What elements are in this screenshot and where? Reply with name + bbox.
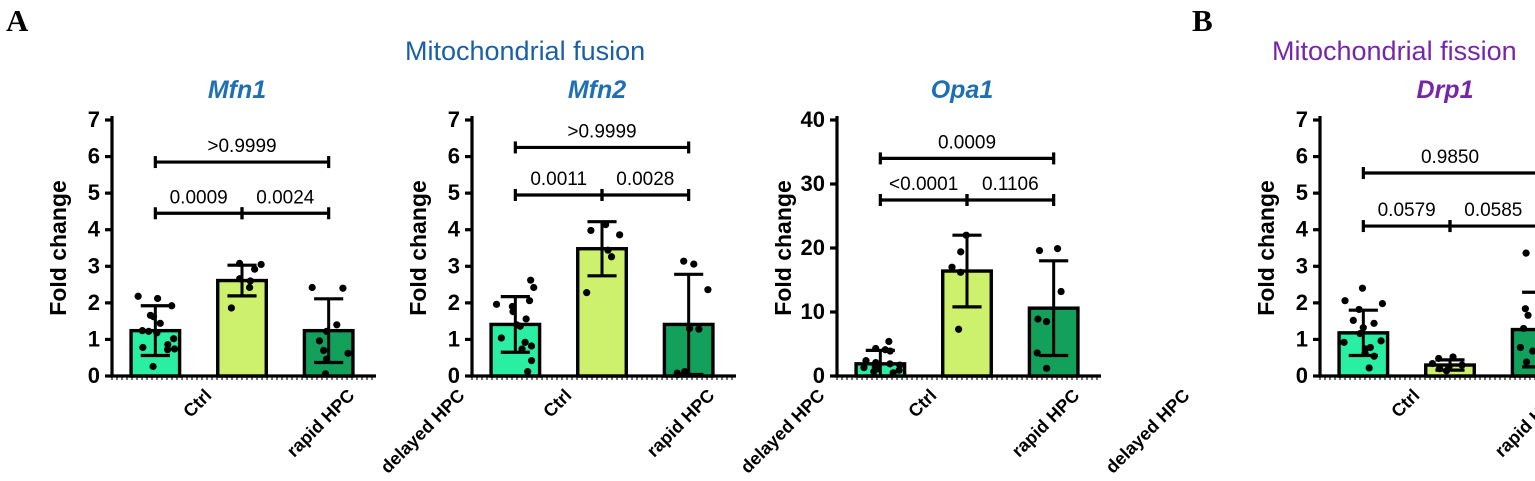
data-point bbox=[247, 277, 254, 284]
data-point bbox=[1340, 339, 1347, 346]
chart-title-drp1: Drp1 bbox=[1258, 78, 1535, 103]
data-point bbox=[323, 328, 330, 335]
data-point bbox=[583, 289, 590, 296]
data-point bbox=[164, 346, 171, 353]
y-tick-label: 1 bbox=[1296, 326, 1308, 351]
data-point bbox=[135, 293, 142, 300]
data-point bbox=[526, 297, 533, 304]
y-axis-label: Fold change bbox=[50, 180, 71, 315]
data-point bbox=[236, 260, 243, 267]
data-point bbox=[690, 260, 697, 267]
data-point bbox=[1524, 312, 1531, 319]
data-point bbox=[517, 323, 524, 330]
data-point bbox=[333, 321, 340, 328]
y-tick-label: 30 bbox=[801, 171, 825, 196]
data-point bbox=[139, 344, 146, 351]
data-point bbox=[1458, 361, 1465, 368]
y-tick-label: 6 bbox=[88, 144, 100, 169]
data-point bbox=[157, 320, 164, 327]
data-point bbox=[1043, 365, 1050, 372]
y-tick-label: 1 bbox=[448, 326, 460, 351]
data-point bbox=[1443, 367, 1450, 374]
data-point bbox=[955, 326, 962, 333]
significance-bracket: 0.0579 bbox=[1363, 200, 1450, 232]
data-point bbox=[316, 337, 323, 344]
data-point bbox=[1371, 353, 1378, 360]
panel-b-label: B bbox=[1192, 5, 1213, 36]
p-value-label: 0.0579 bbox=[1378, 200, 1436, 221]
p-value-label: 0.9850 bbox=[1421, 147, 1479, 168]
y-tick-label: 0 bbox=[813, 363, 825, 388]
significance-bracket: >0.9999 bbox=[515, 121, 688, 153]
data-point bbox=[695, 326, 702, 333]
y-axis-label: Fold change bbox=[1258, 180, 1279, 315]
significance-bracket: >0.9999 bbox=[155, 136, 328, 168]
chart-mfn2: Mfn2 01234567Fold change>0.99990.00110.0… bbox=[410, 78, 740, 481]
y-tick-label: 1 bbox=[88, 326, 100, 351]
data-point bbox=[674, 371, 681, 378]
significance-bracket: 0.0028 bbox=[602, 169, 689, 201]
data-point bbox=[498, 334, 505, 341]
data-point bbox=[1057, 288, 1064, 295]
data-point bbox=[171, 345, 178, 352]
significance-bracket: <0.0001 bbox=[880, 174, 967, 206]
data-point bbox=[251, 266, 258, 273]
data-point bbox=[680, 258, 687, 265]
chart-title-opa1: Opa1 bbox=[775, 78, 1105, 103]
data-point bbox=[1449, 353, 1456, 360]
y-tick-label: 20 bbox=[801, 235, 825, 260]
data-point bbox=[258, 261, 265, 268]
data-point bbox=[862, 357, 869, 364]
y-tick-label: 5 bbox=[448, 180, 460, 205]
data-point bbox=[309, 284, 316, 291]
p-value-label: >0.9999 bbox=[207, 136, 276, 157]
data-point bbox=[886, 360, 893, 367]
y-tick-label: 6 bbox=[448, 144, 460, 169]
data-point bbox=[1034, 349, 1041, 356]
y-tick-label: 5 bbox=[88, 180, 100, 205]
data-point bbox=[1361, 350, 1368, 357]
data-point bbox=[1036, 247, 1043, 254]
y-tick-label: 7 bbox=[1296, 108, 1308, 132]
data-point bbox=[1054, 245, 1061, 252]
chart-drp1: Drp1 01234567Fold change0.98500.05790.05… bbox=[1258, 78, 1535, 481]
y-tick-label: 0 bbox=[448, 363, 460, 388]
p-value-label: 0.0011 bbox=[530, 169, 587, 190]
data-point bbox=[322, 370, 329, 377]
plot-area-opa1: 010203040Fold change0.0009<0.00010.1106 bbox=[775, 108, 1105, 408]
data-point bbox=[344, 350, 351, 357]
significance-bracket: 0.9850 bbox=[1363, 147, 1535, 179]
data-point bbox=[602, 221, 609, 228]
significance-bracket: 0.1106 bbox=[967, 174, 1054, 206]
p-value-label: 0.0009 bbox=[170, 187, 228, 208]
y-tick-label: 7 bbox=[88, 108, 100, 132]
data-point bbox=[1359, 285, 1366, 292]
data-point bbox=[1517, 344, 1524, 351]
data-point bbox=[524, 368, 531, 375]
data-point bbox=[530, 284, 537, 291]
data-point bbox=[150, 313, 157, 320]
y-tick-label: 40 bbox=[801, 108, 825, 132]
data-point bbox=[528, 342, 535, 349]
group-title-fusion: Mitochondrial fusion bbox=[405, 38, 645, 65]
y-axis-label: Fold change bbox=[410, 180, 431, 315]
y-tick-label: 5 bbox=[1296, 180, 1308, 205]
data-point bbox=[149, 363, 156, 370]
data-point bbox=[1436, 365, 1443, 372]
data-point bbox=[1355, 306, 1362, 313]
y-tick-label: 3 bbox=[1296, 253, 1308, 278]
data-point bbox=[170, 335, 177, 342]
data-point bbox=[145, 328, 152, 335]
data-point bbox=[860, 364, 867, 371]
data-point bbox=[1522, 250, 1529, 257]
data-point bbox=[1341, 297, 1348, 304]
data-point bbox=[704, 286, 711, 293]
significance-bracket: 0.0009 bbox=[880, 132, 1053, 164]
y-tick-label: 2 bbox=[88, 290, 100, 315]
data-point bbox=[957, 248, 964, 255]
y-axis-label: Fold change bbox=[775, 180, 796, 315]
data-point bbox=[1350, 317, 1357, 324]
data-point bbox=[963, 232, 970, 239]
data-point bbox=[872, 345, 879, 352]
data-point bbox=[523, 315, 530, 322]
p-value-label: >0.9999 bbox=[567, 121, 636, 142]
significance-bracket: 0.0009 bbox=[155, 187, 242, 219]
chart-mfn1: Mfn1 01234567Fold change>0.99990.00090.0… bbox=[50, 78, 380, 481]
y-tick-label: 7 bbox=[448, 108, 460, 132]
data-point bbox=[1034, 315, 1041, 322]
y-tick-label: 4 bbox=[448, 217, 461, 242]
data-point bbox=[587, 227, 594, 234]
significance-bracket: 0.0011 bbox=[515, 169, 602, 201]
data-point bbox=[608, 253, 615, 260]
data-point bbox=[890, 369, 897, 376]
data-point bbox=[683, 370, 690, 377]
data-point bbox=[493, 301, 500, 308]
data-point bbox=[528, 357, 535, 364]
data-point bbox=[1522, 305, 1529, 312]
p-value-label: 0.0585 bbox=[1464, 200, 1522, 221]
chart-title-mfn1: Mfn1 bbox=[50, 78, 380, 103]
p-value-label: 0.0009 bbox=[938, 132, 996, 153]
data-point bbox=[339, 285, 346, 292]
data-point bbox=[139, 327, 146, 334]
y-tick-label: 0 bbox=[1296, 363, 1308, 388]
data-point bbox=[604, 247, 611, 254]
data-point bbox=[168, 302, 175, 309]
data-point bbox=[228, 304, 235, 311]
data-point bbox=[509, 308, 516, 315]
p-value-label: <0.0001 bbox=[889, 174, 958, 195]
data-point bbox=[1377, 337, 1384, 344]
y-tick-label: 4 bbox=[88, 217, 101, 242]
y-tick-label: 2 bbox=[448, 290, 460, 315]
data-point bbox=[320, 347, 327, 354]
data-point bbox=[527, 277, 534, 284]
plot-area-mfn2: 01234567Fold change>0.99990.00110.0028 bbox=[410, 108, 740, 408]
data-point bbox=[948, 264, 955, 271]
data-point bbox=[1523, 359, 1530, 366]
data-point bbox=[1366, 364, 1373, 371]
data-point bbox=[1357, 330, 1364, 337]
data-point bbox=[236, 275, 243, 282]
data-point bbox=[1043, 318, 1050, 325]
y-tick-label: 4 bbox=[1296, 217, 1309, 242]
significance-bracket: 0.0024 bbox=[242, 187, 329, 219]
data-point bbox=[885, 338, 892, 345]
chart-title-mfn2: Mfn2 bbox=[410, 78, 740, 103]
data-point bbox=[323, 356, 330, 363]
data-point bbox=[957, 269, 964, 276]
data-point bbox=[246, 284, 253, 291]
x-tick-label-delayed-hpc: delayed HPC bbox=[1102, 386, 1193, 477]
p-value-label: 0.0024 bbox=[256, 187, 315, 208]
y-tick-label: 3 bbox=[448, 253, 460, 278]
data-point bbox=[154, 295, 161, 302]
data-point bbox=[887, 347, 894, 354]
group-title-fission: Mitochondrial fission bbox=[1272, 38, 1517, 65]
data-point bbox=[522, 339, 529, 346]
data-point bbox=[1435, 355, 1442, 362]
plot-area-mfn1: 01234567Fold change>0.99990.00090.0024 bbox=[50, 108, 380, 408]
y-tick-label: 3 bbox=[88, 253, 100, 278]
y-tick-label: 6 bbox=[1296, 144, 1308, 169]
data-point bbox=[153, 329, 160, 336]
y-tick-label: 10 bbox=[801, 299, 825, 324]
p-value-label: 0.1106 bbox=[982, 174, 1039, 195]
data-point bbox=[1429, 360, 1436, 367]
data-point bbox=[686, 325, 693, 332]
data-point bbox=[616, 231, 623, 238]
panel-a-label: A bbox=[6, 5, 28, 36]
significance-bracket: 0.0585 bbox=[1450, 200, 1535, 232]
plot-area-drp1: 01234567Fold change0.98500.05790.0585 bbox=[1258, 108, 1535, 408]
data-point bbox=[870, 368, 877, 375]
y-tick-label: 0 bbox=[88, 363, 100, 388]
p-value-label: 0.0028 bbox=[616, 169, 674, 190]
chart-opa1: Opa1 010203040Fold change0.0009<0.00010.… bbox=[775, 78, 1105, 481]
data-point bbox=[518, 345, 525, 352]
data-point bbox=[1370, 320, 1377, 327]
data-point bbox=[1520, 325, 1527, 332]
y-tick-label: 2 bbox=[1296, 290, 1308, 315]
data-point bbox=[1379, 300, 1386, 307]
